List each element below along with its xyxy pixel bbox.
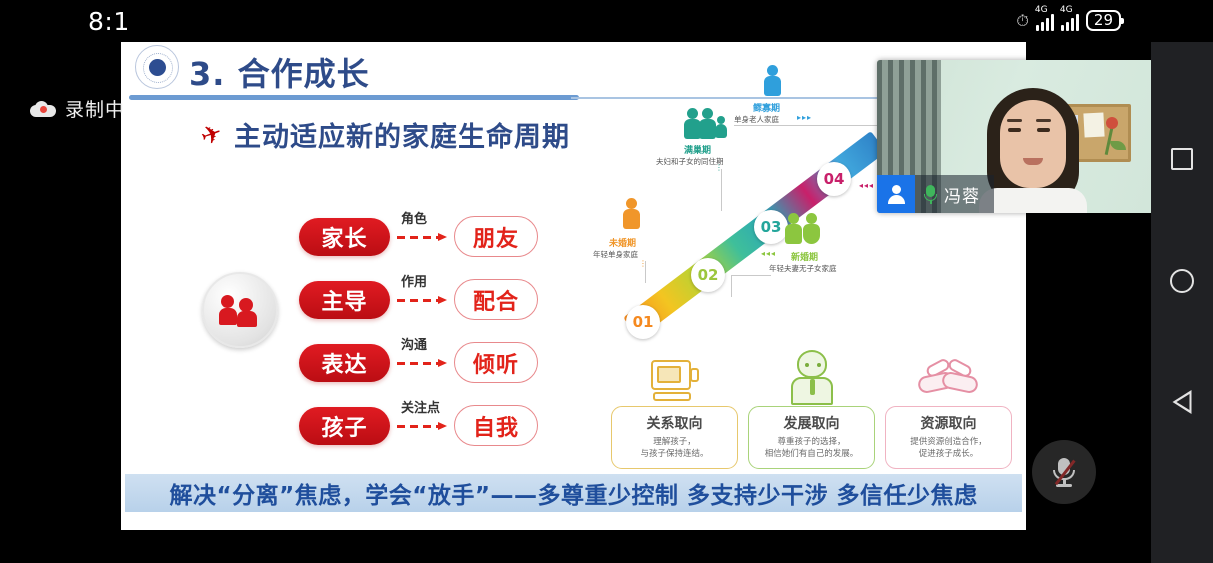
title-rule — [129, 95, 579, 100]
card-desc-line1: 提供资源创造合作， — [890, 436, 1007, 448]
card-desc-line1: 尊重孩子的选择， — [753, 436, 870, 448]
card-title: 关系取向 — [616, 413, 733, 433]
role-to-pill: 配合 — [454, 279, 538, 320]
back-triangle-icon[interactable] — [1173, 390, 1192, 414]
monitor-icon — [611, 338, 738, 406]
role-to-pill: 倾听 — [454, 342, 538, 383]
card-desc-line1: 理解孩子， — [616, 436, 733, 448]
orientation-cards: 关系取向 理解孩子， 与孩子保持连结。 发展取向 尊重孩子的选择， 相信她们有自… — [611, 338, 1021, 478]
role-to-pill: 朋友 — [454, 216, 538, 257]
role-from-pill: 表达 — [299, 344, 390, 382]
slide-title: 3. 合作成长 — [189, 49, 370, 95]
stage-label: 满巢期 — [684, 143, 711, 156]
stage-leader-line — [721, 169, 722, 211]
status-clock: 8:1 — [88, 7, 130, 36]
card-body: 资源取向 提供资源创造合作， 促进孩子成长。 — [885, 406, 1012, 469]
stage-desc: 夫妇和子女的同住期 — [656, 156, 724, 167]
card-desc-line2: 与孩子保持连结。 — [616, 448, 733, 460]
card-title: 发展取向 — [753, 413, 870, 433]
role-relation-label: 沟通 — [401, 334, 427, 353]
stage-label: 新婚期 — [791, 250, 818, 263]
recording-indicator: 录制中 — [30, 95, 125, 122]
family-group-icon — [202, 272, 278, 348]
recording-label: 录制中 — [65, 95, 125, 122]
phone-screen: 3. 合作成长 ✈ 主动适应新的家庭生命周期 家长 角色 朋友 主导 作用 — [0, 0, 1213, 563]
microphone-icon — [924, 185, 937, 204]
microphone-muted-icon — [1052, 457, 1076, 487]
stage-desc: 单身老人家庭 — [734, 114, 779, 125]
role-from-pill: 家长 — [299, 218, 390, 256]
arrow-right-icon — [397, 422, 449, 431]
role-mapping-row: 表达 沟通 倾听 — [279, 334, 539, 395]
home-circle-icon[interactable] — [1170, 269, 1194, 293]
stage-leader-line — [731, 275, 771, 276]
participant-video-tile[interactable]: 冯蓉 — [877, 60, 1153, 213]
stage-leader-line — [734, 125, 886, 126]
role-to-pill: 自我 — [454, 405, 538, 446]
status-icons: ⏱ 4G 4G 29 — [1016, 10, 1121, 31]
card-body: 发展取向 尊重孩子的选择， 相信她们有自己的发展。 — [748, 406, 875, 469]
mute-button[interactable] — [1032, 440, 1096, 504]
stage-dots: ⋮ — [715, 163, 724, 172]
airplane-icon: ✈ — [197, 117, 227, 151]
timeline-node: 03 — [754, 210, 788, 244]
stage-label: 未婚期 — [609, 236, 636, 249]
signal-icon-sim2: 4G — [1061, 11, 1079, 31]
signal-icon-sim1: 4G — [1036, 11, 1054, 31]
timeline-node: 02 — [691, 258, 725, 292]
school-logo-icon — [135, 45, 179, 89]
stage-leader-line — [731, 275, 732, 297]
card-desc-line2: 相信她们有自己的发展。 — [753, 448, 870, 460]
alarm-icon: ⏱ — [1016, 11, 1028, 31]
role-mapping-row: 孩子 关注点 自我 — [279, 397, 539, 458]
participant-nameplate: 冯蓉 — [877, 175, 994, 213]
person-badge-icon — [877, 175, 915, 213]
stage-desc: 年轻单身家庭 — [593, 249, 638, 260]
orientation-card: 发展取向 尊重孩子的选择， 相信她们有自己的发展。 — [748, 338, 875, 478]
participant-name: 冯蓉 — [944, 182, 980, 207]
arrow-right-icon — [397, 233, 449, 242]
status-bar: 8:1 ⏱ 4G 4G 29 — [0, 0, 1213, 42]
card-body: 关系取向 理解孩子， 与孩子保持连结。 — [611, 406, 738, 469]
cloud-record-icon — [30, 101, 56, 117]
battery-indicator: 29 — [1086, 10, 1121, 31]
stage-dots: ⋮ — [639, 259, 648, 268]
card-title: 资源取向 — [890, 413, 1007, 433]
slide-banner-text: 解决“分离”焦虑，学会“放手”——多尊重少控制 多支持少干涉 多信任少焦虑 — [170, 476, 978, 510]
role-relation-label: 角色 — [401, 208, 427, 227]
role-mapping-list: 家长 角色 朋友 主导 作用 配合 表达 沟通 倾听 孩子 关注点 — [279, 208, 539, 460]
stage-dots: ◂◂◂ — [859, 181, 874, 190]
stage-dots: ◂◂◂ — [761, 249, 776, 258]
orientation-card: 资源取向 提供资源创造合作， 促进孩子成长。 — [885, 338, 1012, 478]
slide-banner: 解决“分离”焦虑，学会“放手”——多尊重少控制 多支持少干涉 多信任少焦虑 — [125, 474, 1022, 512]
handshake-icon — [885, 338, 1012, 406]
role-relation-label: 作用 — [401, 271, 427, 290]
person-icon — [748, 338, 875, 406]
role-relation-label: 关注点 — [401, 397, 440, 416]
stage-dots: ▸▸▸ — [797, 113, 812, 122]
timeline-node: 04 — [817, 162, 851, 196]
arrow-right-icon — [397, 359, 449, 368]
timeline-node: 01 — [626, 305, 660, 339]
role-mapping-row: 家长 角色 朋友 — [279, 208, 539, 269]
role-mapping-row: 主导 作用 配合 — [279, 271, 539, 332]
recents-square-icon[interactable] — [1171, 148, 1193, 170]
orientation-card: 关系取向 理解孩子， 与孩子保持连结。 — [611, 338, 738, 478]
stage-desc: 年轻夫妻无子女家庭 — [769, 263, 837, 274]
slide-subtitle: 主动适应新的家庭生命周期 — [234, 115, 570, 154]
role-from-pill: 孩子 — [299, 407, 390, 445]
android-navigation-bar — [1151, 0, 1213, 563]
stage-label: 鳏寡期 — [753, 101, 780, 114]
arrow-right-icon — [397, 296, 449, 305]
card-desc-line2: 促进孩子成长。 — [890, 448, 1007, 460]
role-from-pill: 主导 — [299, 281, 390, 319]
slide-subtitle-row: ✈ 主动适应新的家庭生命周期 — [201, 115, 570, 154]
